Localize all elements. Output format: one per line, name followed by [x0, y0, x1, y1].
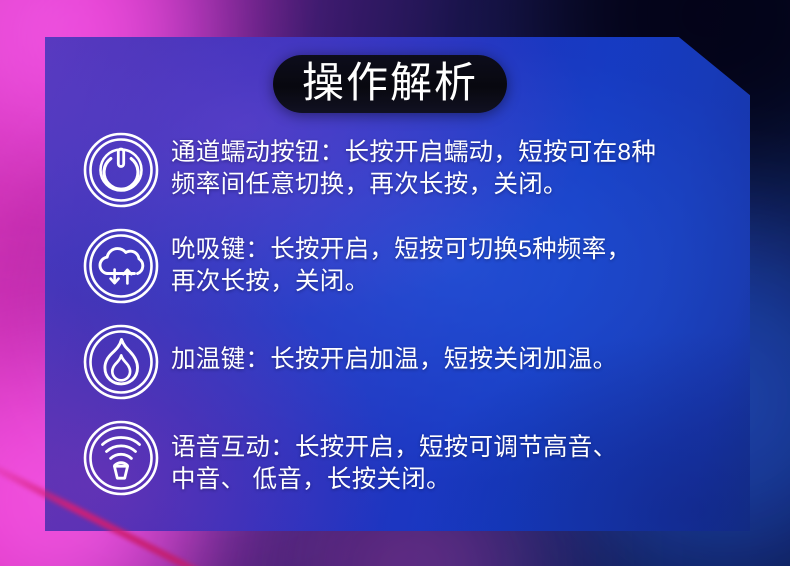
feature-list: 通道蠕动按钮：长按开启蠕动，短按可在8种 频率间任意切换，再次长按，关闭。 吮吸…	[83, 132, 733, 516]
page-title: 操作解析	[302, 62, 478, 104]
flame-heating-icon	[83, 324, 159, 400]
feature-row-voice: 语音互动：长按开启，短按可调节高音、 中音、 低音，长按关闭。	[83, 420, 733, 500]
feature-text-heating: 加温键：长按开启加温，短按关闭加温。	[171, 324, 733, 376]
feature-text-peristalsis: 通道蠕动按钮：长按开启蠕动，短按可在8种 频率间任意切换，再次长按，关闭。	[171, 132, 733, 201]
feature-row-heating: 加温键：长按开启加温，短按关闭加温。	[83, 324, 733, 404]
feature-row-peristalsis: 通道蠕动按钮：长按开启蠕动，短按可在8种 频率间任意切换，再次长按，关闭。	[83, 132, 733, 212]
title-pill: 操作解析	[273, 55, 507, 113]
feature-row-suction: 吮吸键：长按开启，短按可切换5种频率， 再次长按，关闭。	[83, 228, 733, 308]
voice-wave-icon	[83, 420, 159, 496]
power-button-icon	[83, 132, 159, 208]
feature-text-suction: 吮吸键：长按开启，短按可切换5种频率， 再次长按，关闭。	[171, 228, 733, 298]
feature-text-voice: 语音互动：长按开启，短按可调节高音、 中音、 低音，长按关闭。	[171, 420, 733, 496]
suction-cloud-icon	[83, 228, 159, 304]
poster-canvas: 操作解析 通道蠕动按钮：长按开启蠕动，短按可在8种 频率间任意切换，再次长按，关…	[0, 0, 790, 566]
